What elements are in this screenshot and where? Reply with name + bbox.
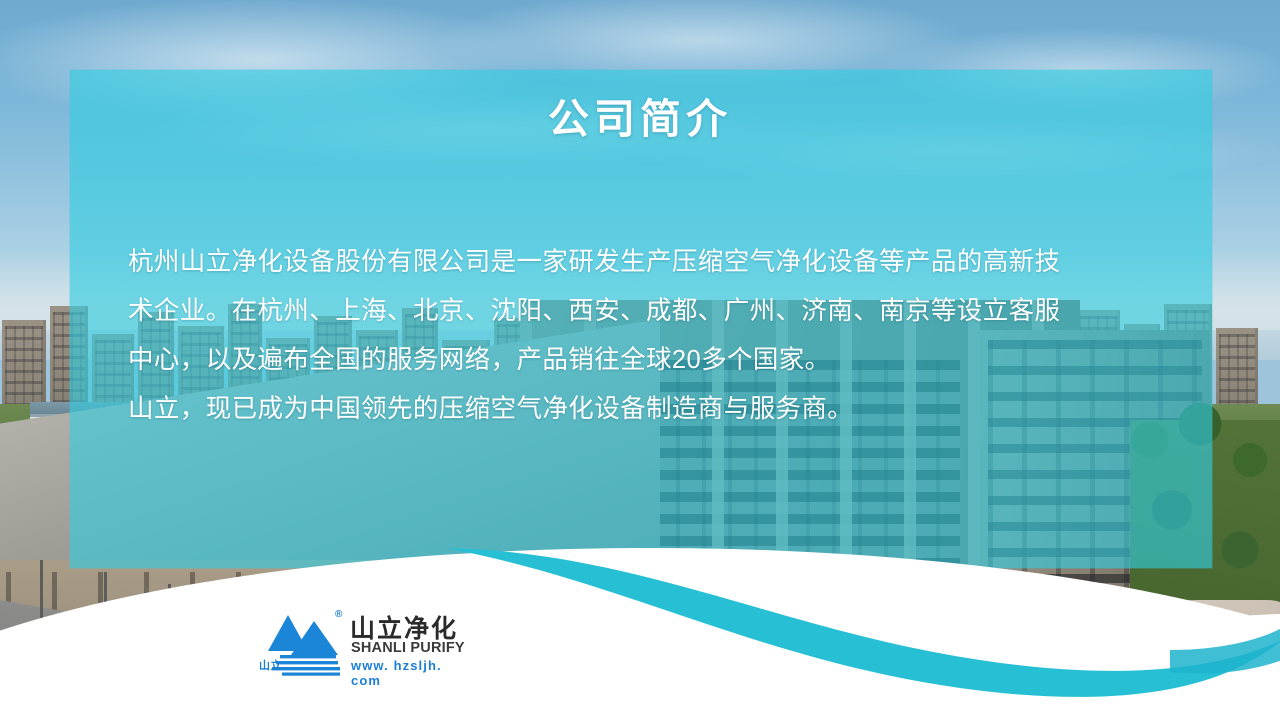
body-line: 中心，以及遍布全国的服务网络，产品销往全球20多个国家。 bbox=[128, 336, 1104, 385]
page-title: 公司简介 bbox=[0, 85, 1280, 145]
body-line: 杭州山立净化设备股份有限公司是一家研发生产压缩空气净化设备等产品的高新技 bbox=[128, 238, 1104, 287]
body-line: 术企业。在杭州、上海、北京、沈阳、西安、成都、广州、济南、南京等设立客服 bbox=[128, 287, 1104, 336]
cyan-swoosh-ribbon bbox=[0, 500, 1280, 720]
logo-mark-label: 山立 bbox=[259, 657, 282, 673]
registered-trademark-icon: ® bbox=[335, 609, 342, 620]
body-line: 山立，现已成为中国领先的压缩空气净化设备制造商与服务商。 bbox=[128, 385, 1104, 434]
presentation-slide: 公司简介 杭州山立净化设备股份有限公司是一家研发生产压缩空气净化设备等产品的高新… bbox=[0, 0, 1280, 720]
body-paragraph: 杭州山立净化设备股份有限公司是一家研发生产压缩空气净化设备等产品的高新技 术企业… bbox=[128, 238, 1104, 434]
logo-name-en: SHANLI PURIFY bbox=[351, 640, 465, 656]
logo-website[interactable]: www. hzsljh. com bbox=[351, 658, 468, 688]
company-logo: ® 山立 山立净化 SHANLI PURIFY www. hzsljh. com bbox=[258, 607, 468, 683]
